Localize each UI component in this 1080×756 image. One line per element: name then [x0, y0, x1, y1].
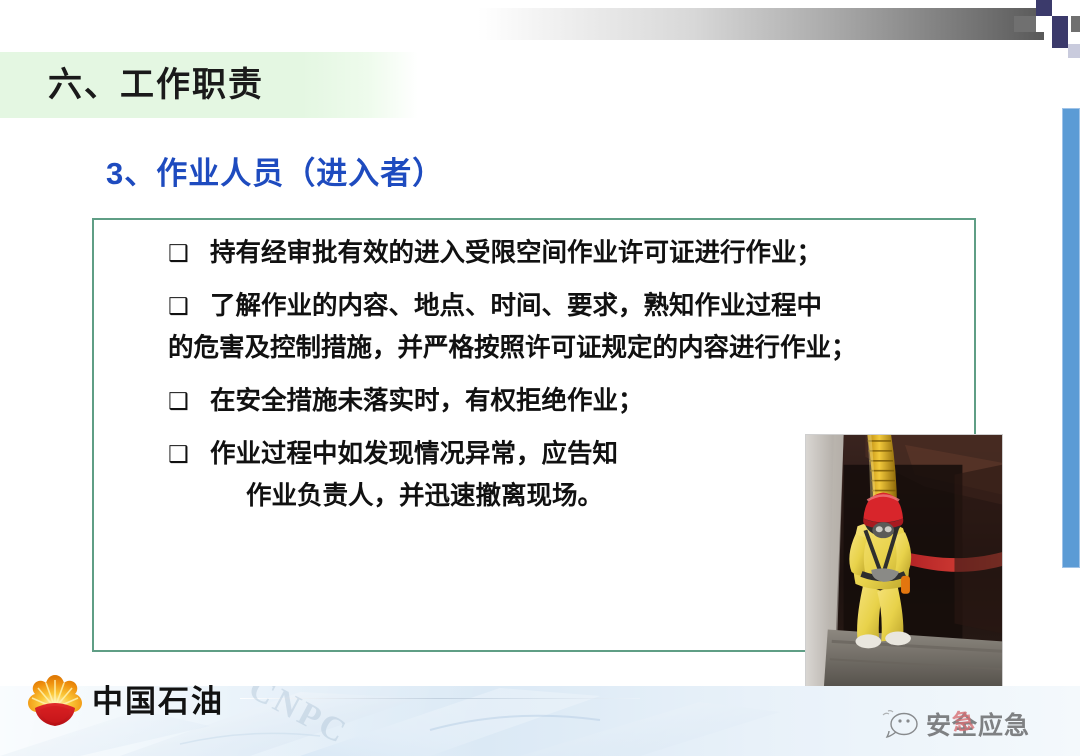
- slide-canvas: 六、工作职责 3、作业人员（进入者） ❑ 持有经审批有效的进入受限空间作业许可证…: [0, 0, 1080, 756]
- checker-square: [1071, 16, 1080, 32]
- checker-square: [1052, 16, 1068, 32]
- wechat-account-label: 安全应急: [926, 713, 1030, 740]
- checker-square: [1014, 16, 1036, 32]
- bullet-square-icon: ❑: [168, 232, 210, 274]
- confined-space-worker-photo: [805, 434, 1003, 689]
- list-item-line: 作业过程中如发现情况异常，应告知: [210, 440, 618, 468]
- wechat-watermark: 安全应急 急: [880, 706, 1030, 742]
- cnpc-logo-icon: [26, 672, 84, 730]
- wechat-bubble-icon: [880, 709, 920, 739]
- list-item-text: 持有经审批有效的进入受限空间作业许可证进行作业；: [210, 232, 998, 274]
- checker-square: [1036, 16, 1052, 32]
- bullet-square-icon: ❑: [168, 380, 210, 422]
- list-item: ❑ 持有经审批有效的进入受限空间作业许可证进行作业；: [168, 232, 998, 274]
- list-item-text: 在安全措施未落实时，有权拒绝作业；: [210, 380, 998, 422]
- brand-name: 中国石油: [92, 680, 224, 724]
- checker-square: [1052, 32, 1068, 48]
- checker-square: [1068, 44, 1080, 58]
- top-gradient-bar: [478, 8, 1044, 40]
- bullet-square-icon: ❑: [168, 433, 210, 475]
- corner-checker-squares: [1014, 0, 1080, 48]
- section-subtitle: 3、作业人员（进入者）: [106, 148, 444, 193]
- list-item-line: 了解作业的内容、地点、时间、要求，熟知作业过程中: [210, 292, 822, 320]
- vertical-scrollbar[interactable]: [1062, 108, 1080, 568]
- bullet-square-icon: ❑: [168, 285, 210, 327]
- list-item-line: 的危害及控制措施，并严格按照许可证规定的内容进行作业；: [168, 327, 986, 369]
- page-title: 六、工作职责: [48, 60, 264, 110]
- list-item-text: 了解作业的内容、地点、时间、要求，熟知作业过程中 的危害及控制措施，并严格按照许…: [210, 285, 998, 369]
- wechat-account-name: 安全应急 急: [926, 706, 1030, 742]
- list-item: ❑ 了解作业的内容、地点、时间、要求，熟知作业过程中 的危害及控制措施，并严格按…: [168, 285, 998, 369]
- list-item: ❑ 在安全措施未落实时，有权拒绝作业；: [168, 380, 998, 422]
- red-stamp-icon: 急: [950, 703, 977, 738]
- checker-square: [1036, 0, 1052, 16]
